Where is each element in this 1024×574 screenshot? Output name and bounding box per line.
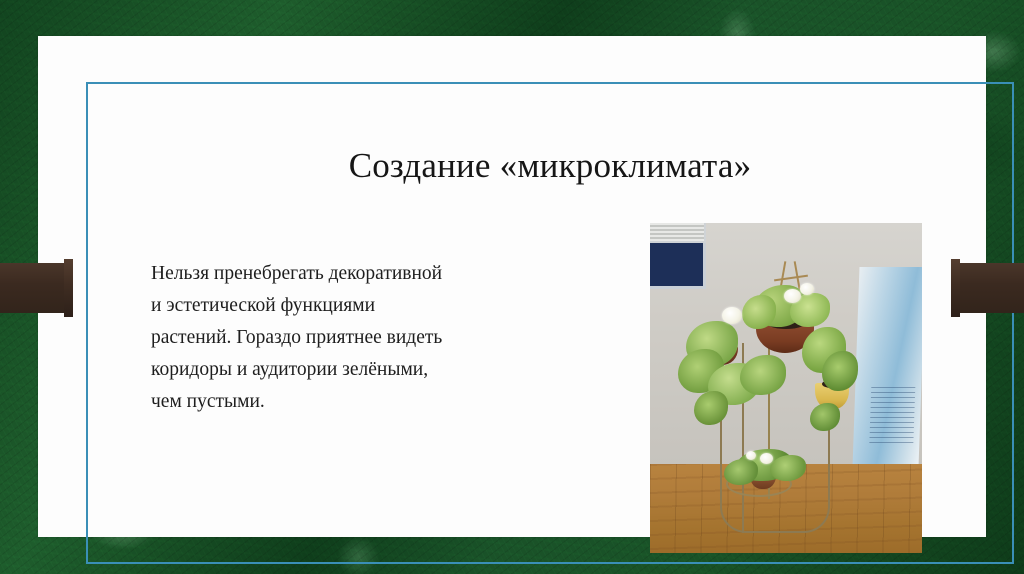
presentation-slide: Создание «микроклимата» Нельзя пренебрег… xyxy=(0,0,1024,574)
plants-photo xyxy=(650,223,922,553)
slide-body-text: Нельзя пренебрегать декоративной и эстет… xyxy=(151,258,571,418)
banner xyxy=(853,267,922,467)
white-flower xyxy=(800,283,814,295)
white-flower xyxy=(784,289,801,303)
ribbon-tab-right xyxy=(951,263,1024,313)
notice-board-header xyxy=(650,223,706,243)
ribbon-end-cap xyxy=(64,259,73,317)
body-line: Нельзя пренебрегать декоративной xyxy=(151,258,571,290)
white-flower xyxy=(760,453,773,464)
ribbon-end-cap xyxy=(951,259,960,317)
photo-scene xyxy=(650,223,922,553)
banner-text-lines xyxy=(869,387,915,443)
white-flower xyxy=(746,451,756,460)
slide-title: Создание «микроклимата» xyxy=(98,144,1002,188)
body-line: коридоры и аудитории зелёными, xyxy=(151,354,571,386)
body-line: и эстетической функциями xyxy=(151,290,571,322)
ribbon-tab-left xyxy=(0,263,73,313)
body-line: растений. Гораздо приятнее видеть xyxy=(151,322,571,354)
body-line: чем пустыми. xyxy=(151,386,571,418)
slide-card: Создание «микроклимата» Нельзя пренебрег… xyxy=(38,36,986,537)
white-flower xyxy=(722,307,742,324)
